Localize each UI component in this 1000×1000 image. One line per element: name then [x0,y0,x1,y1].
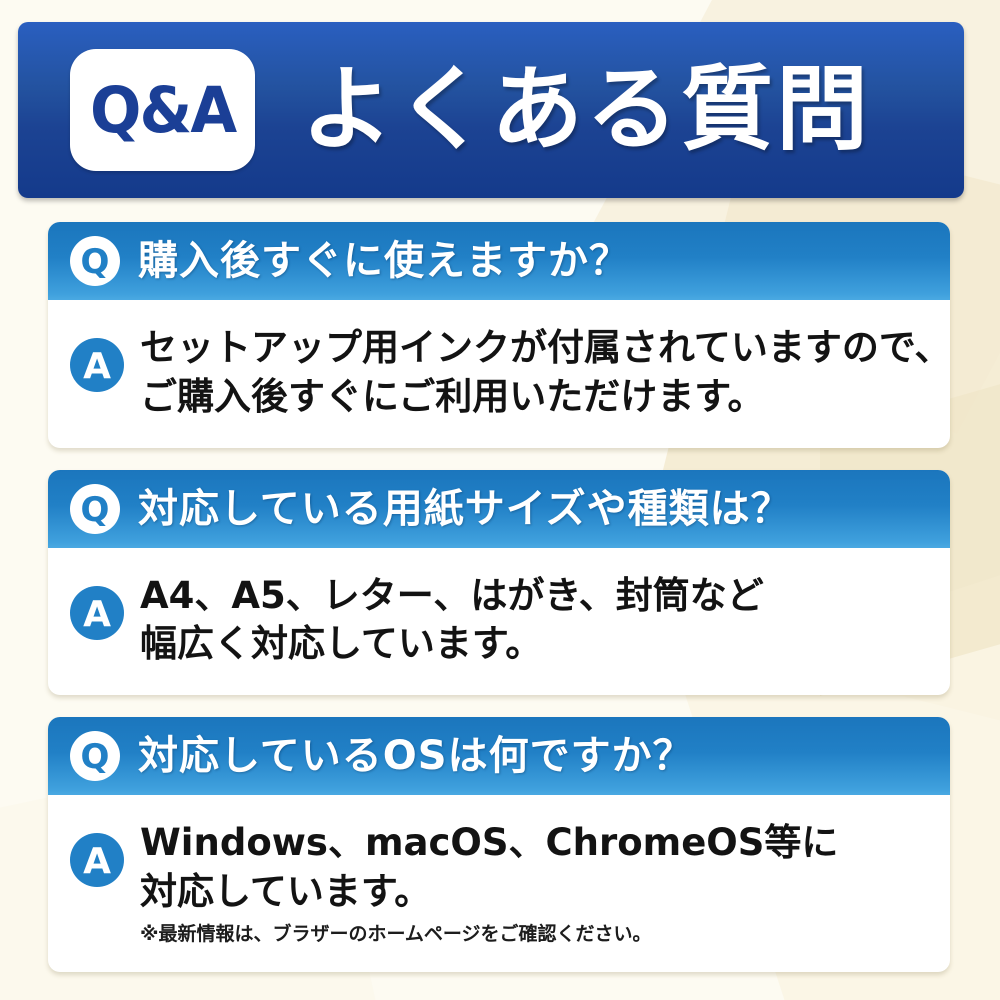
answer-line: ご購入後すぐにご利用いただけます。 [140,373,950,422]
qa-badge-label: Q&A [90,79,235,142]
answer-line: 幅広く対応しています。 [140,620,764,669]
page-title: よくある質問 [301,64,871,156]
svg-text:Q: Q [81,242,110,282]
svg-text:A: A [83,346,111,387]
answer-line: セットアップ用インクが付属されていますので、 [140,324,950,373]
q-circle-icon: Q [68,234,122,288]
header-banner: Q&A よくある質問 [18,22,964,198]
answer-text: Windows、macOS、ChromeOS等に 対応しています。 ※最新情報は… [140,817,838,945]
answer-text: セットアップ用インクが付属されていますので、 ご購入後すぐにご利用いただけます。 [140,322,950,422]
answer-text: A4、A5、レター、はがき、封筒など 幅広く対応しています。 [140,570,764,670]
answer-body: A セットアップ用インクが付属されていますので、 ご購入後すぐにご利用いただけま… [48,300,950,448]
a-circle-icon: A [68,831,126,889]
question-bar: Q 対応しているOSは何ですか？ [48,717,950,795]
q-circle-icon: Q [68,729,122,783]
faq-graphic: Q&A よくある質問 Q 購入後すぐに使えますか？ A セットアップ用インクが付… [0,0,1000,1000]
faq-list: Q 購入後すぐに使えますか？ A セットアップ用インクが付属されていますので、 … [48,222,950,994]
question-bar: Q 購入後すぐに使えますか？ [48,222,950,300]
svg-text:A: A [83,594,111,635]
faq-card: Q 購入後すぐに使えますか？ A セットアップ用インクが付属されていますので、 … [48,222,950,448]
answer-body: A A4、A5、レター、はがき、封筒など 幅広く対応しています。 [48,548,950,696]
qa-badge: Q&A [70,49,255,171]
question-text: 対応しているOSは何ですか？ [138,736,694,776]
svg-text:Q: Q [81,490,110,530]
a-circle-icon: A [68,584,126,642]
faq-card: Q 対応している用紙サイズや種類は？ A A4、A5、レター、はがき、封筒など … [48,470,950,696]
faq-card: Q 対応しているOSは何ですか？ A Windows、macOS、ChromeO… [48,717,950,971]
answer-line: A4、A5、レター、はがき、封筒など [140,572,764,621]
question-text: 購入後すぐに使えますか？ [138,241,630,281]
question-bar: Q 対応している用紙サイズや種類は？ [48,470,950,548]
answer-line: Windows、macOS、ChromeOS等に [140,819,838,868]
svg-text:A: A [83,841,111,882]
answer-body: A Windows、macOS、ChromeOS等に 対応しています。 ※最新情… [48,795,950,971]
svg-text:Q: Q [81,737,110,777]
answer-line: 対応しています。 [140,868,838,917]
a-circle-icon: A [68,336,126,394]
q-circle-icon: Q [68,482,122,536]
question-text: 対応している用紙サイズや種類は？ [138,489,792,529]
answer-note: ※最新情報は、ブラザーのホームページをご確認ください。 [140,923,838,946]
